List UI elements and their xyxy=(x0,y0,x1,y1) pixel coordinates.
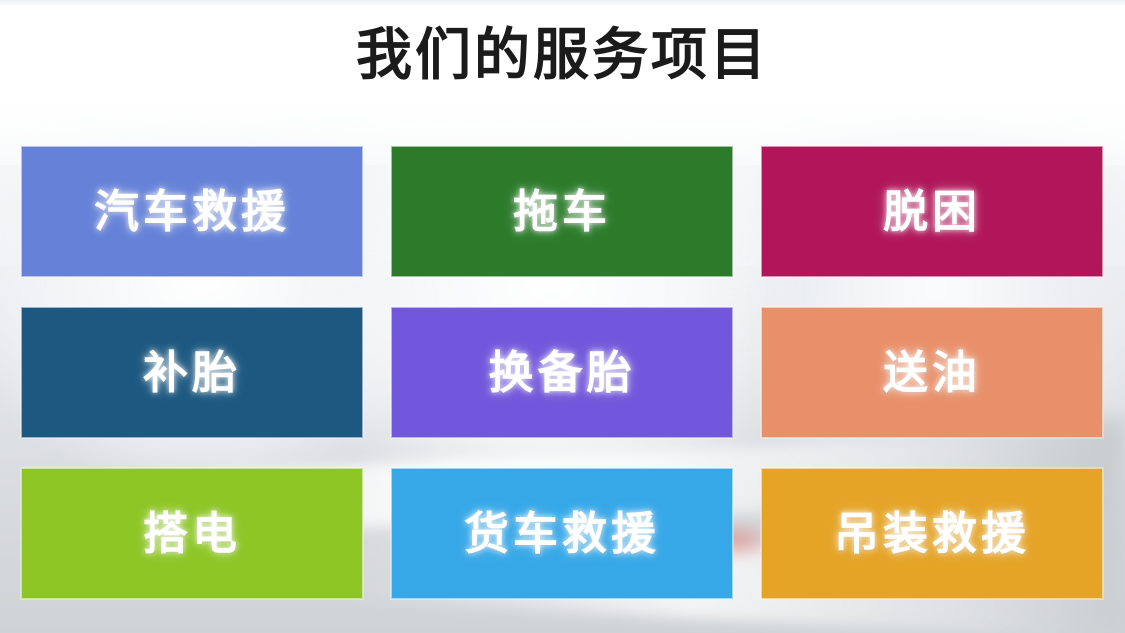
service-tile-label: 补胎 xyxy=(143,350,241,395)
service-tile-label: 搭电 xyxy=(143,511,241,556)
service-tile-label: 汽车救援 xyxy=(94,189,290,234)
service-tile-spare-tire-change[interactable]: 换备胎 xyxy=(391,307,733,438)
service-tile-label: 吊装救援 xyxy=(834,511,1030,556)
service-tile-label: 换备胎 xyxy=(488,350,635,395)
service-tile-car-rescue[interactable]: 汽车救援 xyxy=(21,146,363,277)
service-tile-tire-repair[interactable]: 补胎 xyxy=(21,307,363,438)
service-tile-hoisting-rescue[interactable]: 吊装救援 xyxy=(761,468,1103,599)
service-page: 我们的服务项目 汽车救援 拖车 脱困 补胎 换备胎 送油 搭电 货车救援 吊装救… xyxy=(0,0,1125,633)
service-tile-jump-start[interactable]: 搭电 xyxy=(21,468,363,599)
service-tile-label: 货车救援 xyxy=(464,511,660,556)
service-tile-fuel-delivery[interactable]: 送油 xyxy=(761,307,1103,438)
service-grid: 汽车救援 拖车 脱困 补胎 换备胎 送油 搭电 货车救援 吊装救援 xyxy=(21,146,1103,616)
page-title: 我们的服务项目 xyxy=(0,24,1125,86)
service-tile-label: 拖车 xyxy=(513,189,611,234)
service-tile-truck-rescue[interactable]: 货车救援 xyxy=(391,468,733,599)
service-tile-label: 脱困 xyxy=(883,189,981,234)
service-tile-extrication[interactable]: 脱困 xyxy=(761,146,1103,277)
service-tile-label: 送油 xyxy=(883,350,981,395)
service-tile-towing[interactable]: 拖车 xyxy=(391,146,733,277)
